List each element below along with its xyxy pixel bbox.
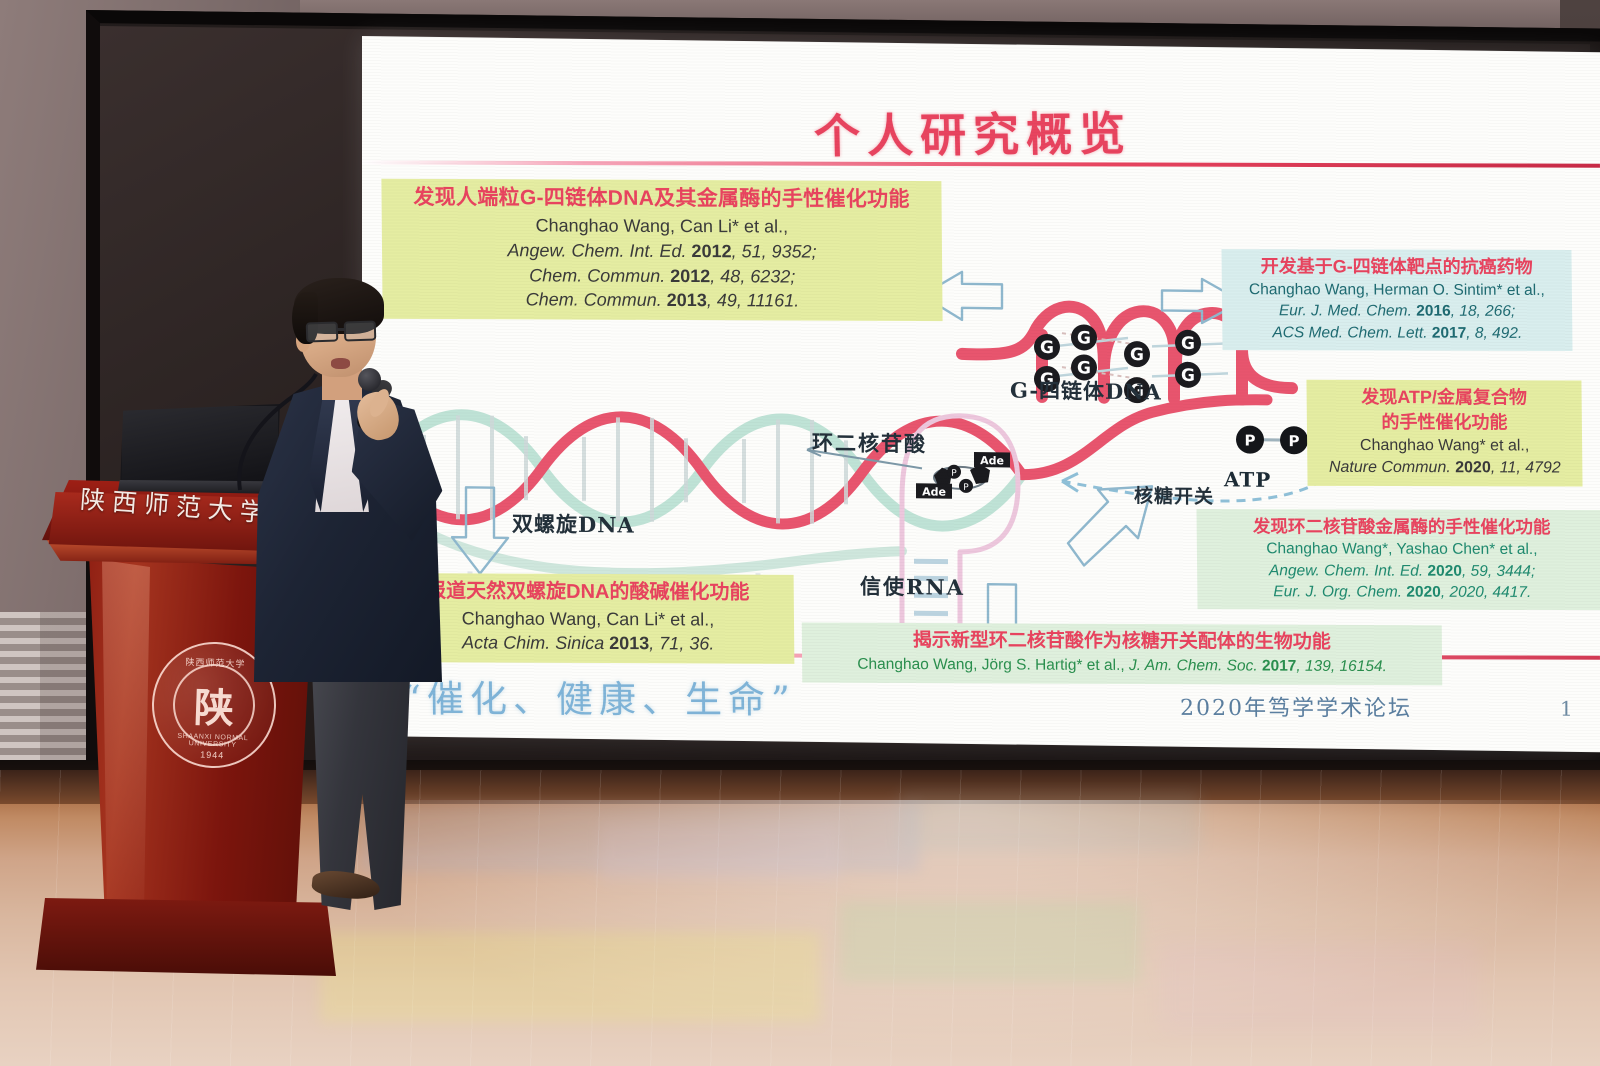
red-strand-link [1022, 397, 1267, 478]
callout-cdn-heading: 发现环二核苷酸金属酶的手性催化功能 [1207, 514, 1597, 539]
speaker-mouth [331, 358, 350, 369]
callout-telomere-ref1-rest: , 51, 9352; [731, 241, 816, 261]
callout-telomere-ref1-year: 2012 [691, 241, 731, 261]
svg-text:G: G [1181, 334, 1195, 354]
callout-riboswitch-ref1-rest: , 139, 16154. [1296, 658, 1387, 675]
callout-riboswitch: 揭示新型环二核苷酸作为核糖开关配体的生物功能 Changhao Wang, Jö… [802, 623, 1442, 685]
callout-duplex-ref1-journal: Acta Chim. Sinica [462, 633, 604, 654]
callout-telomere-ref2-journal: Chem. Commun. [529, 265, 665, 286]
callout-anticancer-ref2-year: 2017 [1432, 324, 1467, 341]
svg-text:P: P [1289, 432, 1300, 450]
callout-telomere-ref3-rest: , 49, 11161. [707, 291, 800, 311]
callout-atp-heading-line2: 的手性催化功能 [1317, 410, 1572, 435]
callout-telomere: 发现人端粒G-四链体DNA及其金属酶的手性催化功能 Changhao Wang,… [381, 179, 942, 322]
callout-telomere-ref3-journal: Chem. Commun. [526, 290, 662, 311]
callout-atp-authors: Changhao Wang* et al., [1317, 434, 1572, 457]
callout-duplex-heading: 报道天然双螺旋DNA的酸碱催化功能 [392, 578, 784, 607]
callout-anticancer-ref1-journal: Eur. J. Med. Chem. [1279, 302, 1412, 319]
label-g4-dna: G-四链体DNA [1010, 374, 1162, 406]
speaker-eyeglass-bridge [337, 328, 346, 331]
callout-atp-heading-line1: 发现ATP/金属复合物 [1317, 385, 1572, 410]
slide-footer-note: 2020年笃学学术论坛 [1180, 690, 1412, 723]
label-messenger-rna: 信使RNA [860, 571, 965, 602]
podium-base [36, 898, 336, 976]
svg-text:G: G [1040, 338, 1054, 358]
callout-riboswitch-ref1-journal: J. Am. Chem. Soc. [1129, 657, 1258, 675]
cyclic-dinucleotide-molecule: P P Ade Ade [916, 451, 1010, 499]
callout-telomere-heading: 发现人端粒G-四链体DNA及其金属酶的手性催化功能 [391, 184, 931, 215]
callout-cdn: 发现环二核苷酸金属酶的手性催化功能 Changhao Wang*, Yashao… [1196, 509, 1600, 610]
callout-atp-ref1-journal: Nature Commun. [1329, 459, 1451, 476]
helix-base-pairs [424, 415, 846, 525]
callout-duplex-authors: Changhao Wang, Can Li* et al., [392, 606, 784, 633]
callout-cdn-ref1-year: 2020 [1427, 562, 1462, 579]
callout-telomere-ref2-rest: , 48, 6232; [710, 266, 795, 286]
projected-slide: 个人研究概览 [362, 36, 1600, 752]
callout-anticancer: 开发基于G-四链体靶点的抗癌药物 Changhao Wang, Herman O… [1221, 249, 1572, 351]
label-atp: ATP [1224, 467, 1271, 492]
callout-anticancer-ref2-journal: ACS Med. Chem. Lett. [1272, 324, 1427, 341]
microphone-head [358, 368, 381, 391]
presentation-photo-scene: 个人研究概览 [0, 0, 1600, 1066]
callout-telomere-ref2-year: 2012 [670, 266, 710, 286]
speaker-eyeglass-left [306, 321, 339, 342]
svg-text:Ade: Ade [980, 454, 1004, 467]
svg-text:Ade: Ade [922, 485, 946, 498]
floor-slide-reflection [300, 782, 1600, 1062]
callout-riboswitch-authors: Changhao Wang, Jörg S. Hartig* et al., [857, 656, 1125, 674]
callout-cdn-ref2-rest: , 2020, 4417. [1441, 584, 1532, 601]
callout-telomere-ref3-year: 2013 [667, 290, 707, 310]
callout-atp-ref1-rest: , 11, 4792 [1491, 459, 1561, 476]
emblem-name-en: SHAANXI NORMAL UNIVERSITY [153, 732, 273, 750]
callout-telomere-ref1-journal: Angew. Chem. Int. Ed. [507, 240, 686, 261]
speaker-eyeglass-right [344, 320, 377, 341]
svg-text:P: P [1245, 432, 1256, 450]
svg-text:G: G [1181, 366, 1195, 386]
label-riboswitch: 核糖开关 [1134, 486, 1156, 507]
callout-anticancer-ref1-year: 2016 [1416, 303, 1451, 320]
callout-anticancer-ref2-rest: , 8, 492. [1466, 324, 1522, 341]
svg-text:P: P [963, 483, 969, 493]
callout-telomere-authors: Changhao Wang, Can Li* et al., [392, 213, 932, 240]
slide-slogan: “催化、健康、生命” [402, 669, 796, 724]
callout-anticancer-authors: Changhao Wang, Herman O. Sintim* et al., [1232, 279, 1562, 301]
callout-atp: 发现ATP/金属复合物 的手性催化功能 Changhao Wang* et al… [1306, 380, 1582, 487]
callout-anticancer-ref1-rest: , 18, 266; [1451, 303, 1516, 320]
svg-text:G: G [1130, 345, 1144, 365]
callout-cdn-ref2-year: 2020 [1406, 584, 1441, 601]
wall-vent-grille-highlight [0, 612, 40, 784]
callout-atp-ref1-year: 2020 [1455, 459, 1491, 476]
callout-riboswitch-ref1-year: 2017 [1262, 658, 1297, 675]
callout-duplex: 报道天然双螺旋DNA的酸碱催化功能 Changhao Wang, Can Li*… [382, 573, 795, 664]
callout-cdn-ref1-journal: Angew. Chem. Int. Ed. [1269, 562, 1423, 579]
label-cyclic-dinucleotide: 环二核苷酸 [812, 427, 927, 459]
slide-page-number: 1 [1560, 697, 1573, 721]
callout-cdn-authors: Changhao Wang*, Yashao Chen* et al., [1207, 538, 1597, 560]
svg-text:G: G [1077, 328, 1091, 348]
callout-cdn-ref2-journal: Eur. J. Org. Chem. [1273, 583, 1402, 600]
svg-text:P: P [951, 469, 957, 479]
callout-riboswitch-heading: 揭示新型环二核苷酸作为核糖开关配体的生物功能 [812, 628, 1432, 657]
label-double-helix-dna: 双螺旋DNA [512, 508, 635, 540]
callout-duplex-ref1-year: 2013 [609, 633, 649, 653]
callout-duplex-ref1-rest: , 71, 36. [649, 634, 714, 654]
callout-anticancer-heading: 开发基于G-四链体靶点的抗癌药物 [1232, 254, 1562, 280]
callout-cdn-ref1-rest: , 59, 3444; [1462, 562, 1535, 579]
